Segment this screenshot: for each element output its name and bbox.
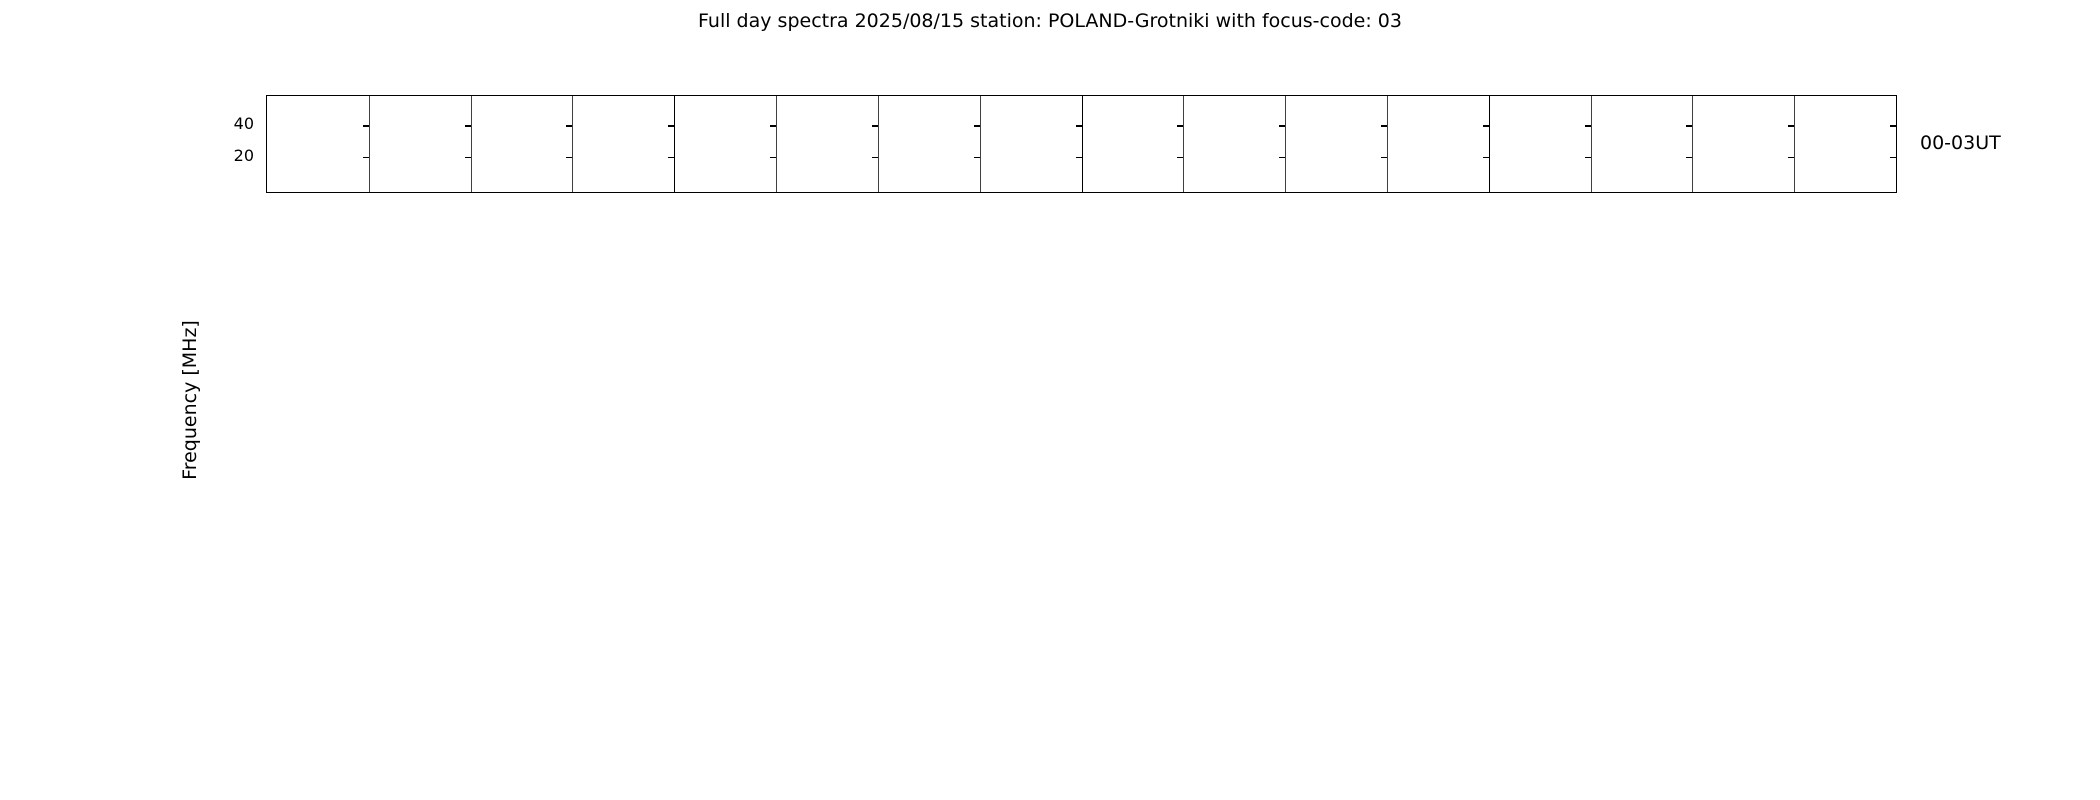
y-tick-mark-inner [1890,125,1896,126]
y-tick-mark-inner [668,157,674,158]
y-tick-mark-inner [1076,157,1082,158]
y-tick-mark-inner [872,157,878,158]
y-tick-mark-inner [465,157,471,158]
spectrogram-figure: Full day spectra 2025/08/15 station: POL… [0,0,2100,800]
y-tick-mark-inner [1177,157,1183,158]
y-tick-mark-inner [1483,125,1489,126]
panel-separator [1692,96,1693,192]
y-tick-mark-inner [872,125,878,126]
y-tick-mark-inner [1076,125,1082,126]
y-tick-mark-inner [1686,157,1692,158]
panel-separator [369,96,370,192]
y-tick-mark-inner [1381,157,1387,158]
panel-separator [1794,96,1795,192]
panel-separator [471,96,472,192]
panel-separator [1082,96,1083,192]
y-tick-mark-inner [1585,157,1591,158]
y-tick-mark-inner [1585,125,1591,126]
panel-separator [1591,96,1592,192]
panel-separator [776,96,777,192]
panel-separator [1285,96,1286,192]
panel-separator [572,96,573,192]
y-tick-mark-inner [1788,157,1794,158]
y-tick-mark-inner [566,157,572,158]
row-label-00-03ut: 00-03UT [1920,132,2001,154]
panel-separator [1489,96,1490,192]
panel-separator [1183,96,1184,192]
y-tick-mark-inner [974,125,980,126]
y-tick-mark-inner [1279,125,1285,126]
y-tick-mark-inner [668,125,674,126]
y-tick-mark-inner [1788,125,1794,126]
y-tick-mark-inner [1177,125,1183,126]
y-tick-mark-inner [1279,157,1285,158]
y-tick-label: 40 [214,114,254,133]
y-tick-mark-inner [465,125,471,126]
y-tick-mark-inner [770,125,776,126]
y-tick-mark-inner [1381,125,1387,126]
y-tick-label: 20 [214,146,254,165]
panel-separator [674,96,675,192]
y-tick-mark-inner [363,157,369,158]
y-axis-label: Frequency [MHz] [179,320,201,480]
y-tick-mark [266,125,267,126]
y-tick-mark-inner [566,125,572,126]
y-tick-mark-inner [1890,157,1896,158]
y-tick-mark [266,157,267,158]
y-tick-mark-inner [1483,157,1489,158]
panel-separator [878,96,879,192]
page-title: Full day spectra 2025/08/15 station: POL… [0,10,2100,32]
panel-separator [1387,96,1388,192]
y-tick-mark-inner [974,157,980,158]
spectra-row-00-03ut[interactable] [266,95,1897,193]
y-tick-mark-inner [1686,125,1692,126]
panel-separator [980,96,981,192]
y-tick-mark-inner [770,157,776,158]
y-tick-mark-inner [363,125,369,126]
